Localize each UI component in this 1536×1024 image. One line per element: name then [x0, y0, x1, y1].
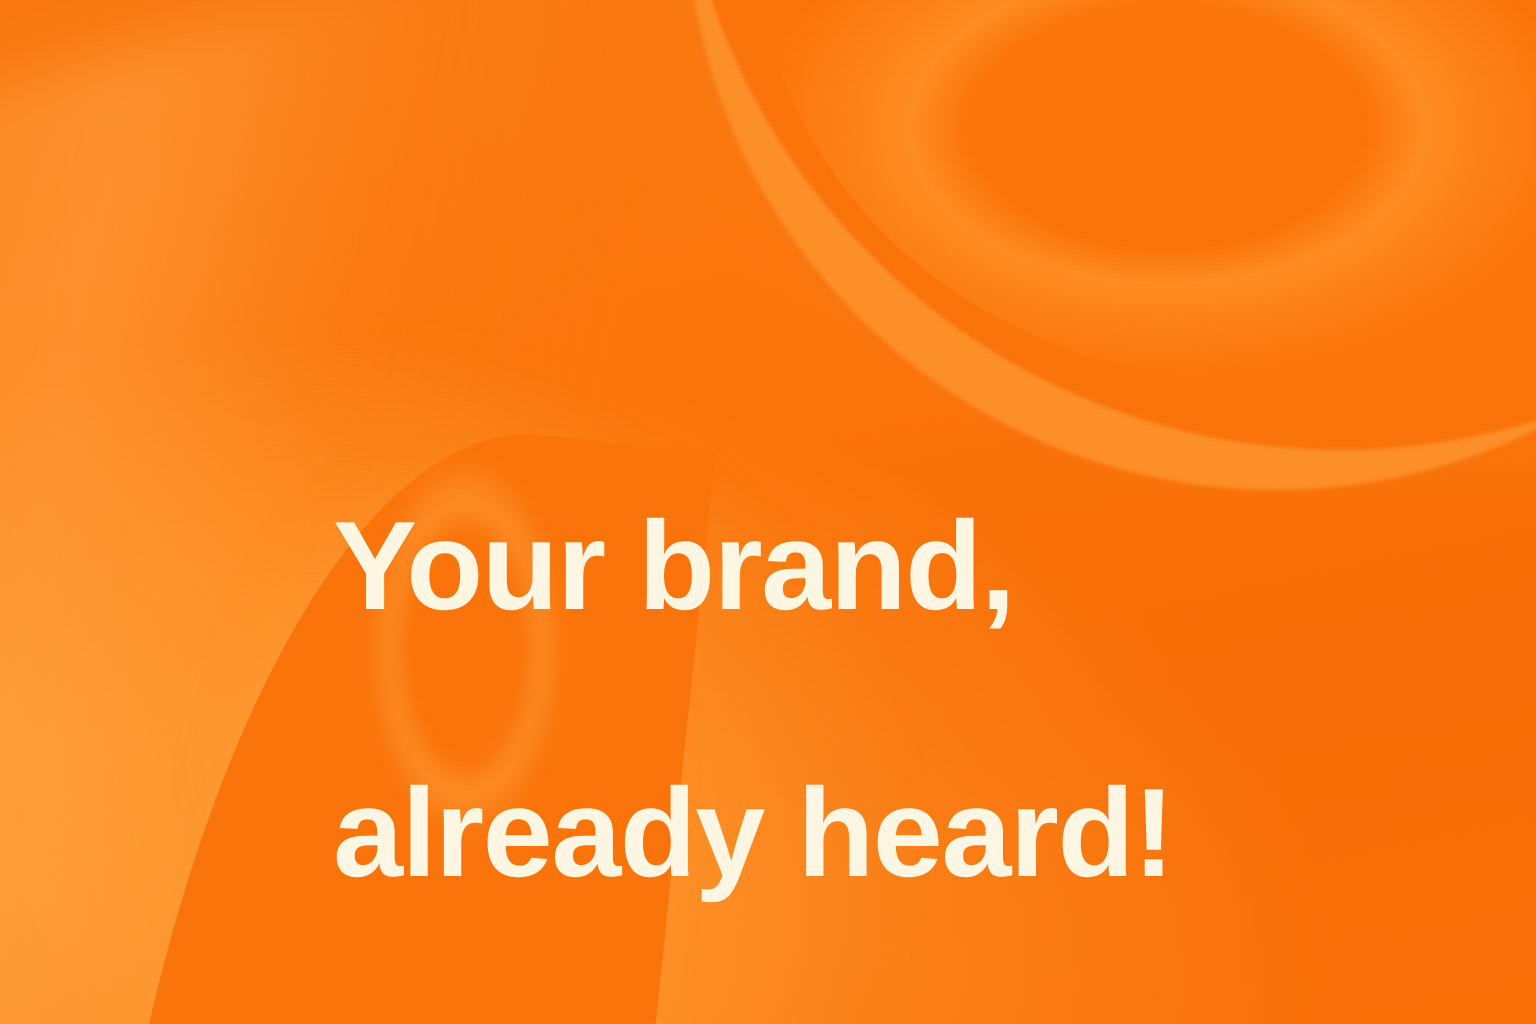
brand-hero-banner: Your brand, already heard! [0, 0, 1536, 1024]
page-title: Your brand, already heard! [333, 378, 1343, 1021]
headline-line-1: Your brand, [333, 503, 1343, 628]
headline-line-2: already heard! [333, 770, 1343, 895]
headline-block: Your brand, already heard! [333, 378, 1343, 1021]
